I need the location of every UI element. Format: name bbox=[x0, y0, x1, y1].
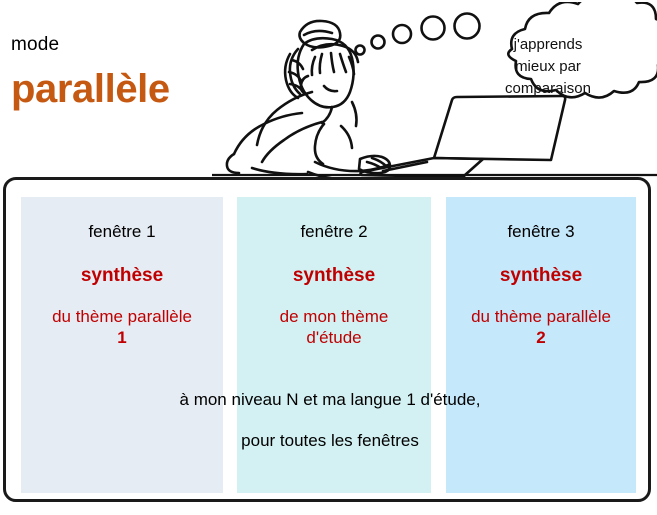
synthesis-heading-3: synthèse bbox=[446, 266, 636, 287]
synthesis-detail-3-line-1: du thème parallèle bbox=[471, 307, 611, 326]
synthesis-detail-3-line-2: 2 bbox=[536, 328, 545, 347]
thought-bubble-line-3: comparaison bbox=[462, 78, 634, 100]
thought-bubble-text: j'apprends mieux par comparaison bbox=[462, 34, 634, 99]
synthesis-heading-1: synthèse bbox=[21, 266, 223, 287]
synthesis-detail-2: de mon thème d'étude bbox=[237, 306, 431, 349]
mode-label: mode bbox=[11, 34, 59, 56]
window-column-3[interactable]: fenêtre 3 synthèse du thème parallèle 2 bbox=[446, 197, 636, 493]
header-area: mode parallèle bbox=[0, 0, 657, 177]
synthesis-detail-1: du thème parallèle 1 bbox=[21, 306, 223, 349]
window-column-2[interactable]: fenêtre 2 synthèse de mon thème d'étude bbox=[237, 197, 431, 493]
window-label-2: fenêtre 2 bbox=[237, 223, 431, 242]
page-title: parallèle bbox=[11, 67, 170, 112]
synthesis-detail-1-line-2: 1 bbox=[117, 328, 126, 347]
synthesis-detail-1-line-1: du thème parallèle bbox=[52, 307, 192, 326]
synthesis-detail-2-line-2: d'étude bbox=[306, 328, 361, 347]
window-column-1[interactable]: fenêtre 1 synthèse du thème parallèle 1 bbox=[21, 197, 223, 493]
thought-bubble-line-1: j'apprends bbox=[462, 34, 634, 56]
synthesis-detail-2-line-1: de mon thème bbox=[280, 307, 389, 326]
parallel-mode-panel: fenêtre 1 synthèse du thème parallèle 1 … bbox=[3, 177, 651, 502]
window-label-3: fenêtre 3 bbox=[446, 223, 636, 242]
synthesis-heading-2: synthèse bbox=[237, 266, 431, 287]
synthesis-detail-3: du thème parallèle 2 bbox=[446, 306, 636, 349]
window-label-1: fenêtre 1 bbox=[21, 223, 223, 242]
thought-bubble-line-2: mieux par bbox=[462, 56, 634, 78]
